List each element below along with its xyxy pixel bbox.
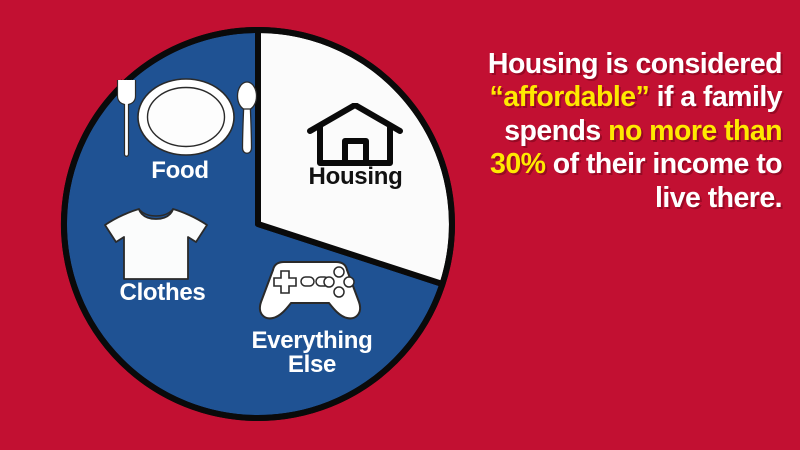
- statement-segment-1: “affordable”: [490, 81, 650, 113]
- statement-segment-4: of their income to live there.: [545, 148, 782, 213]
- plate-fork-spoon-icon: [113, 76, 259, 165]
- tshirt-icon: [101, 206, 211, 287]
- spoon-icon: [238, 82, 257, 153]
- plate-icon: [138, 79, 234, 155]
- statement-segment-0: Housing is considered: [488, 48, 782, 80]
- fork-icon: [118, 80, 136, 156]
- pie-chart-svg: [0, 0, 470, 450]
- pie-chart: Food Clothes Everything Else Housing: [0, 0, 470, 450]
- infographic-canvas: Food Clothes Everything Else Housing Hou…: [0, 0, 800, 450]
- gamepad-icon: [251, 258, 369, 327]
- house-icon: [306, 103, 404, 172]
- statement-text: Housing is considered “affordable” if a …: [482, 48, 782, 215]
